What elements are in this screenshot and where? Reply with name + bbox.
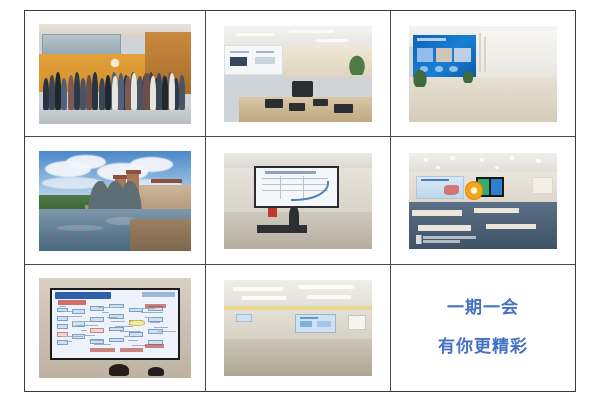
grid-cell-9[interactable]: 一期一会 有你更精彩 <box>391 265 575 391</box>
showroom-blue-display-tour <box>409 26 557 122</box>
grid-cell-3[interactable] <box>391 11 575 137</box>
photo-grid: 一期一会 有你更精彩 <box>24 10 576 392</box>
showroom-product-viewing <box>224 26 372 122</box>
training-room-presenter <box>224 153 372 249</box>
group-photo-corporate-lobby <box>39 24 191 124</box>
grid-cell-6[interactable] <box>391 137 575 265</box>
slogan-line-1: 一期一会 <box>447 300 519 317</box>
collage-page: 一期一会 有你更精彩 <box>0 0 600 402</box>
large-training-seminar <box>409 153 557 249</box>
grid-cell-7[interactable] <box>25 265 206 391</box>
slogan-line-2: 有你更精彩 <box>438 339 528 356</box>
campus-lake-landscape <box>39 151 191 251</box>
classroom-black-chairs <box>224 280 372 376</box>
grid-cell-5[interactable] <box>206 137 391 265</box>
grid-cell-1[interactable] <box>25 11 206 137</box>
grid-cell-2[interactable] <box>206 11 391 137</box>
grid-cell-4[interactable] <box>25 137 206 265</box>
business-leadership-model-slide <box>39 278 191 378</box>
grid-cell-8[interactable] <box>206 265 391 391</box>
